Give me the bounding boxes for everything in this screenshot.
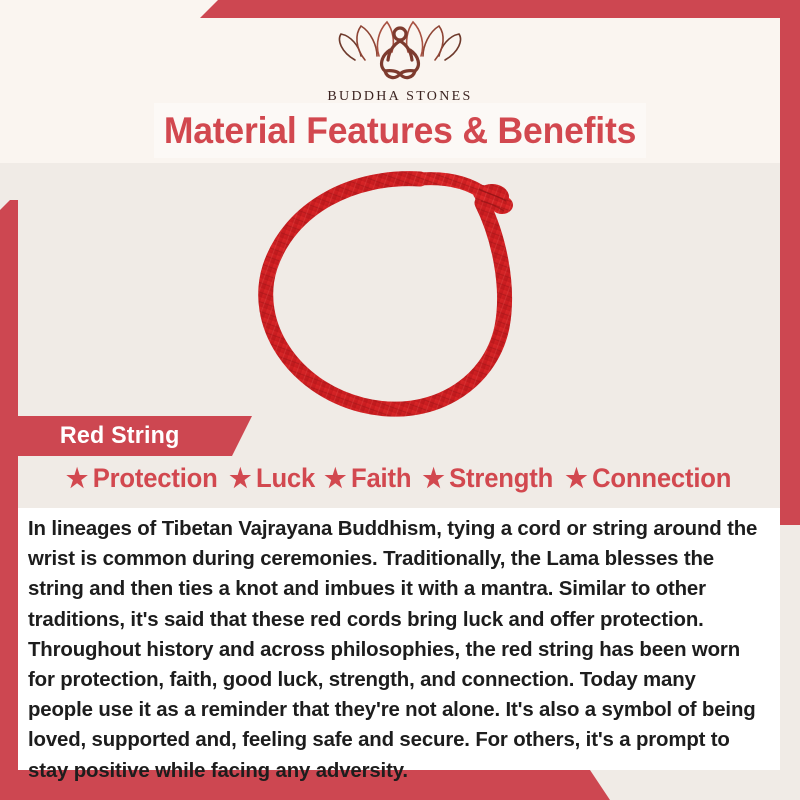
- benefit-strength: ★ Strength: [422, 463, 553, 494]
- lotus-meditation-logo-icon: [325, 16, 475, 88]
- benefit-label: Faith: [351, 463, 411, 494]
- decorative-bar-left: [0, 200, 18, 800]
- benefit-luck: ★ Luck: [229, 463, 315, 494]
- benefit-faith: ★ Faith: [324, 463, 411, 494]
- product-image-area: [18, 163, 780, 423]
- description-text: In lineages of Tibetan Vajrayana Buddhis…: [28, 514, 764, 786]
- star-icon: ★: [66, 465, 88, 491]
- infographic-page: BUDDHA STONES Material Features & Benefi…: [0, 0, 800, 800]
- benefit-connection: ★ Connection: [566, 463, 732, 494]
- benefit-label: Connection: [592, 463, 731, 494]
- benefit-label: Luck: [256, 463, 315, 494]
- product-label-ribbon: Red String: [0, 416, 270, 456]
- star-icon: ★: [229, 465, 251, 491]
- star-icon: ★: [566, 465, 588, 491]
- page-title: Material Features & Benefits: [164, 110, 636, 152]
- benefit-protection: ★ Protection: [66, 463, 218, 494]
- benefit-label: Strength: [449, 463, 553, 494]
- benefits-row: ★ Protection ★ Luck ★ Faith ★ Strength ★…: [18, 463, 780, 494]
- description-panel: In lineages of Tibetan Vajrayana Buddhis…: [18, 508, 780, 770]
- star-icon: ★: [422, 465, 444, 491]
- star-icon: ★: [324, 465, 346, 491]
- red-string-bracelet-image: [234, 163, 564, 425]
- brand-logo: BUDDHA STONES: [0, 16, 800, 105]
- product-label: Red String: [60, 422, 180, 450]
- benefit-label: Protection: [93, 463, 218, 494]
- title-panel: Material Features & Benefits: [154, 103, 646, 158]
